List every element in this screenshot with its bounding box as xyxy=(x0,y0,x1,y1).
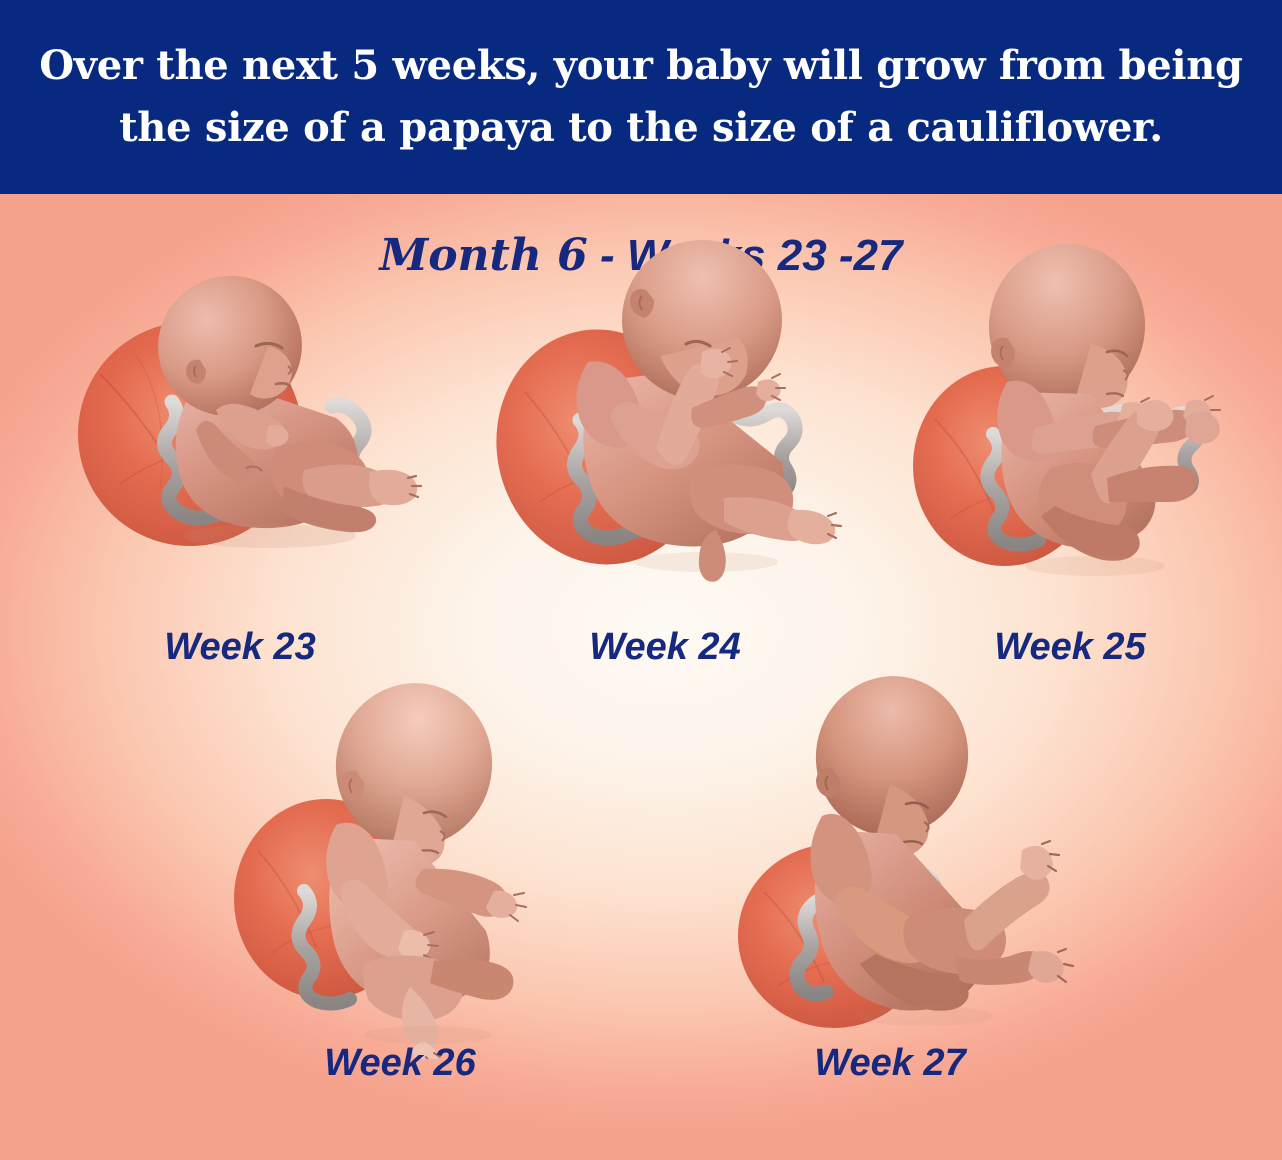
illustration-stage: Month 6 - Weeks 23 -27 xyxy=(0,194,1282,1160)
header-banner: Over the next 5 weeks, your baby will gr… xyxy=(0,0,1282,194)
fetus-art xyxy=(895,234,1255,594)
header-line-2: the size of a papaya to the size of a ca… xyxy=(119,97,1163,159)
fetus-illustration-week-26 xyxy=(218,669,578,1059)
week-label-23: Week 23 xyxy=(40,626,440,669)
fetus-illustration-week-24 xyxy=(470,232,860,592)
fetus-illustration-week-27 xyxy=(710,664,1080,1054)
week-label-27: Week 27 xyxy=(700,1042,1080,1085)
fetus-illustration-week-23 xyxy=(40,254,440,584)
fetus-art xyxy=(218,669,578,1059)
fetus-body xyxy=(803,664,1073,1026)
header-line-1: Over the next 5 weeks, your baby will gr… xyxy=(39,35,1242,97)
week-label-24: Week 24 xyxy=(470,626,860,669)
fetus-art xyxy=(470,232,860,592)
pregnancy-week-infographic: Over the next 5 weeks, your baby will gr… xyxy=(0,0,1282,1160)
week-label-25: Week 25 xyxy=(880,626,1260,669)
fetus-art xyxy=(40,254,440,584)
fetus-illustration-week-25 xyxy=(895,234,1255,594)
week-label-26: Week 26 xyxy=(210,1042,590,1085)
fetus-art xyxy=(710,664,1080,1054)
